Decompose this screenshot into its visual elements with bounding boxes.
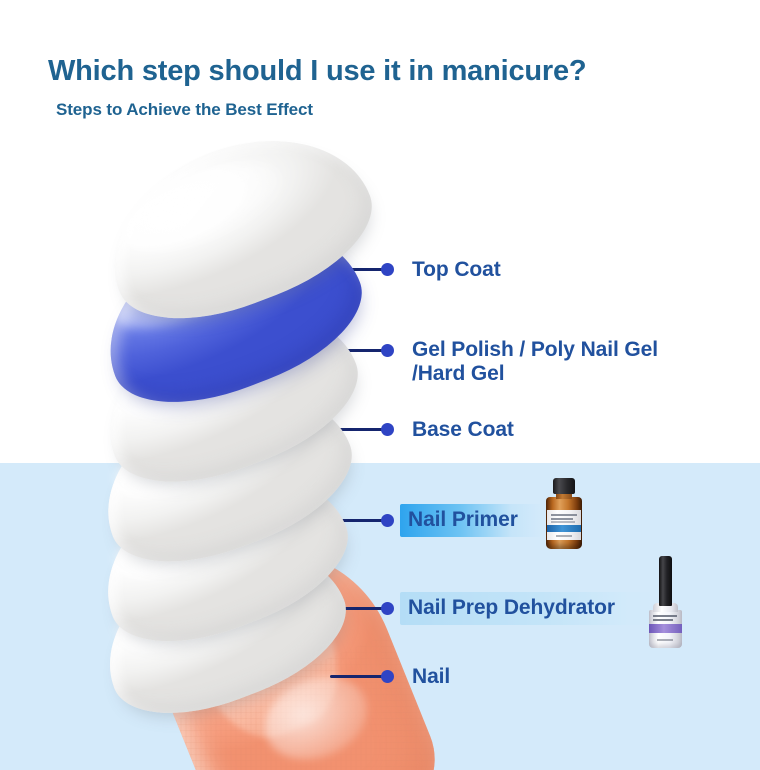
infographic-canvas: Which step should I use it in manicure? … (0, 0, 760, 770)
leader-dot-nail-prep-dehydrator (381, 602, 394, 615)
label-gel-polish[interactable]: Gel Polish / Poly Nail Gel /Hard Gel (412, 338, 658, 385)
bottle-label-line (556, 535, 572, 537)
bottle-label (547, 510, 581, 540)
bottle-label-line (657, 639, 673, 641)
leader-dot-gel-polish (381, 344, 394, 357)
bottle-label-line (551, 514, 577, 516)
leader-dot-nail (381, 670, 394, 683)
leader-dot-nail-primer (381, 514, 394, 527)
bottle-label-line (551, 521, 575, 523)
bottle-label-band (649, 624, 682, 633)
leader-line-nail (330, 675, 388, 678)
label-top-coat[interactable]: Top Coat (412, 258, 501, 282)
nail-layer-stack (0, 0, 420, 770)
leader-dot-top-coat (381, 263, 394, 276)
bottle-label-line (653, 615, 677, 617)
white-polish-bottle-icon (645, 556, 687, 650)
bottle-cap (659, 556, 672, 606)
leader-dot-base-coat (381, 423, 394, 436)
bottle-cap (553, 478, 575, 494)
label-nail[interactable]: Nail (412, 665, 450, 689)
label-nail-prep-dehydrator[interactable]: Nail Prep Dehydrator (400, 592, 658, 625)
label-nail-primer[interactable]: Nail Primer (400, 504, 543, 537)
amber-dropper-bottle-icon (544, 478, 584, 550)
label-base-coat[interactable]: Base Coat (412, 418, 514, 442)
bottle-label-line (551, 518, 573, 520)
bottle-label-band (547, 525, 581, 532)
bottle-label-line (653, 619, 673, 621)
